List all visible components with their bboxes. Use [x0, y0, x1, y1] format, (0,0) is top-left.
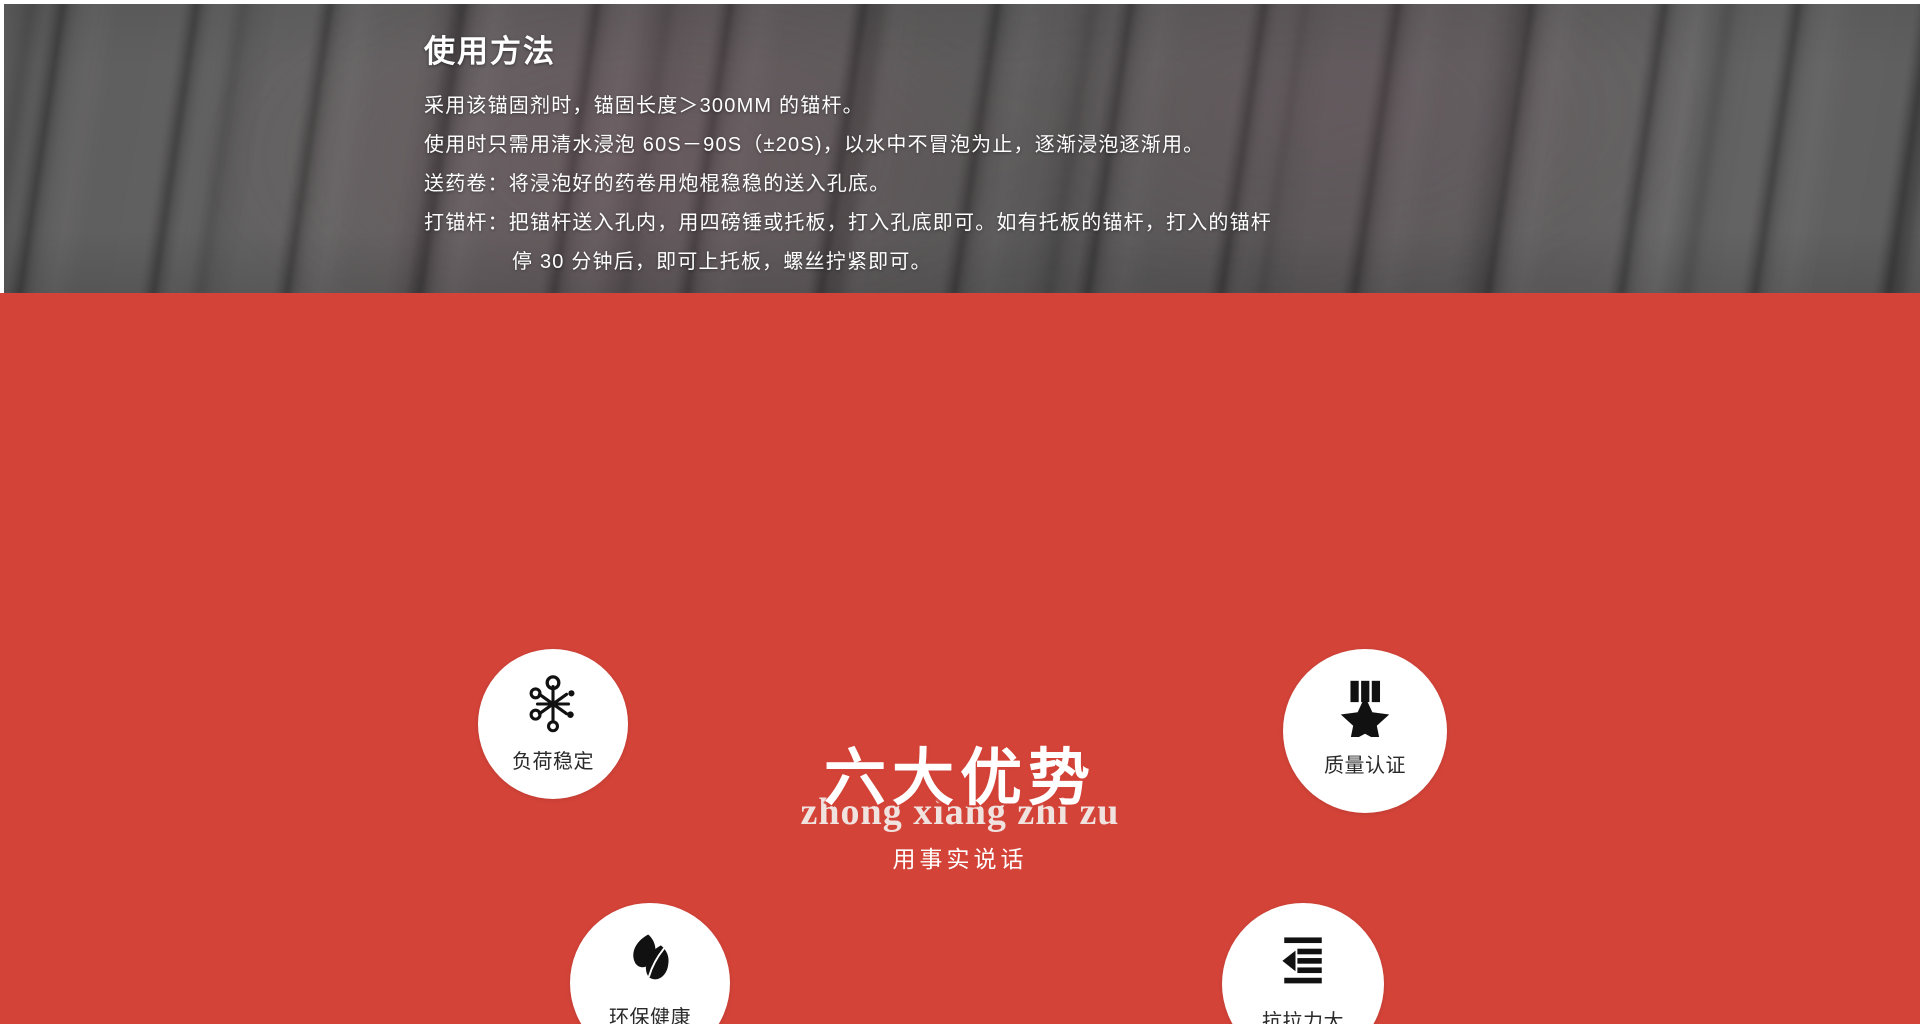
usage-line-5: 停 30 分钟后，即可上托板，螺丝拧紧即可。 — [512, 245, 932, 274]
advantage-bubble-quality[interactable]: 质量认证 — [1283, 649, 1447, 813]
usage-line-4: 打锚杆：把锚杆送入孔内，用四磅锤或托板，打入孔底即可。如有托板的锚杆，打入的锚杆 — [424, 206, 1272, 235]
advantage-bubble-tensile[interactable]: 抗拉力大 — [1222, 903, 1384, 1024]
leaves-icon — [621, 929, 679, 987]
advantage-bubble-load[interactable]: 负荷稳定 — [478, 649, 628, 799]
headline-subtitle: 用事实说话 — [893, 840, 1028, 874]
usage-title: 使用方法 — [424, 26, 556, 71]
advantage-label-eco: 环保健康 — [609, 1001, 691, 1024]
usage-hero-section: 使用方法 采用该锚固剂时，锚固长度＞300MM 的锚杆。 使用时只需用清水浸泡 … — [4, 4, 1920, 293]
advantage-label-tensile: 抗拉力大 — [1262, 1005, 1344, 1024]
usage-line-1: 采用该锚固剂时，锚固长度＞300MM 的锚杆。 — [424, 89, 864, 118]
headline-pinyin: zhong xiang zhi zu — [801, 790, 1120, 834]
headline-stack: zhong xiang zhi zu 六大优势 — [640, 748, 1280, 858]
usage-line-2: 使用时只需用清水浸泡 60S－90S（±20S)，以水中不冒泡为止，逐渐浸泡逐渐… — [424, 128, 1204, 157]
advantage-label-quality: 质量认证 — [1324, 749, 1406, 778]
tensile-arrow-icon — [1273, 929, 1333, 989]
network-node-icon — [522, 673, 584, 735]
six-advantages-section: zhong xiang zhi zu 六大优势 用事实说话 — [0, 293, 1920, 1024]
usage-line-3: 送药卷：将浸泡好的药卷用炮棍稳稳的送入孔底。 — [424, 167, 890, 196]
advantage-bubble-eco[interactable]: 环保健康 — [570, 903, 730, 1024]
headline-title: 六大优势 — [824, 748, 1096, 810]
usage-text-block: 使用方法 采用该锚固剂时，锚固长度＞300MM 的锚杆。 使用时只需用清水浸泡 … — [4, 4, 1920, 293]
medal-star-icon — [1334, 675, 1396, 737]
advantages-page: 使用方法 采用该锚固剂时，锚固长度＞300MM 的锚杆。 使用时只需用清水浸泡 … — [0, 0, 1920, 1024]
advantage-label-load: 负荷稳定 — [512, 745, 594, 774]
